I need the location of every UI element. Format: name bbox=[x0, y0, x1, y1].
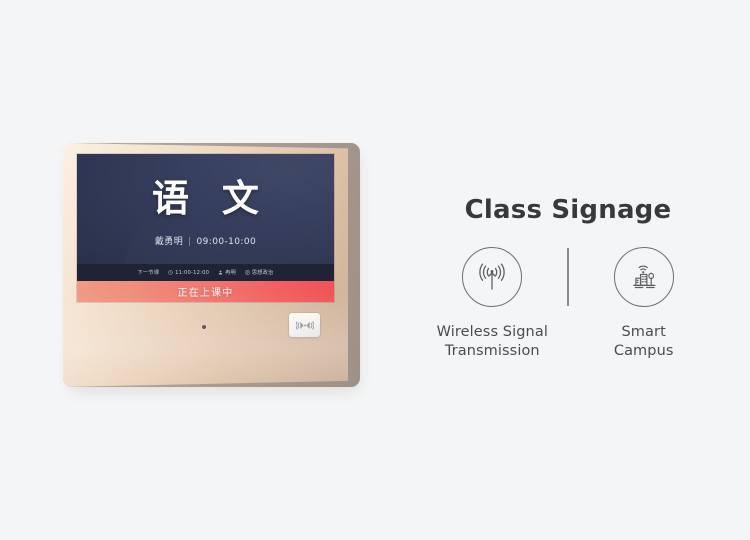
device-screen[interactable]: 语 文 戴勇明|09:00-10:00 下一节课 11:00-12:00 bbox=[77, 154, 334, 302]
next-class-label-item: 下一节课 bbox=[138, 269, 160, 276]
next-class-time: 11:00-12:00 bbox=[175, 270, 209, 276]
feature-row: Wireless Signal Transmission bbox=[408, 247, 728, 362]
next-class-teacher: 冉明 bbox=[225, 269, 236, 276]
device-body: 语 文 戴勇明|09:00-10:00 下一节课 11:00-12:00 bbox=[63, 143, 348, 387]
wireless-antenna-icon bbox=[474, 259, 510, 295]
class-signage-device: 语 文 戴勇明|09:00-10:00 下一节课 11:00-12:00 bbox=[63, 143, 360, 389]
person-icon bbox=[218, 270, 223, 275]
next-class-strip: 下一节课 11:00-12:00 冉明 bbox=[77, 264, 334, 281]
book-icon bbox=[245, 270, 250, 275]
clock-icon bbox=[168, 270, 173, 275]
next-class-subject: 思想政治 bbox=[252, 269, 274, 276]
feature-divider bbox=[567, 248, 568, 306]
feature-icon-circle bbox=[614, 247, 674, 307]
teacher-name: 戴勇明 bbox=[155, 237, 183, 247]
feature-smart-campus: Smart Campus bbox=[575, 247, 713, 362]
info-panel: Class Signage bbox=[408, 196, 728, 361]
nfc-card-reader-icon[interactable] bbox=[289, 313, 320, 337]
page-title: Class Signage bbox=[408, 196, 728, 225]
meta-separator: | bbox=[188, 237, 191, 247]
feature-label: Smart Campus bbox=[614, 323, 674, 362]
smart-campus-icon bbox=[626, 259, 662, 295]
next-class-teacher-item: 冉明 bbox=[218, 269, 236, 276]
next-class-label: 下一节课 bbox=[138, 269, 160, 276]
light-sensor-dot bbox=[202, 325, 206, 329]
current-subject-title: 语 文 bbox=[77, 180, 334, 217]
status-badge-text: 正在上课中 bbox=[178, 284, 234, 299]
current-class-meta: 戴勇明|09:00-10:00 bbox=[77, 234, 334, 247]
screen-main-area: 语 文 戴勇明|09:00-10:00 bbox=[77, 154, 334, 264]
feature-label: Wireless Signal Transmission bbox=[437, 323, 548, 362]
page-root: 语 文 戴勇明|09:00-10:00 下一节课 11:00-12:00 bbox=[0, 0, 750, 540]
status-badge: 正在上课中 bbox=[77, 281, 334, 302]
next-class-subject-item: 思想政治 bbox=[245, 269, 274, 276]
feature-wireless-signal: Wireless Signal Transmission bbox=[423, 247, 561, 362]
class-time-range: 09:00-10:00 bbox=[197, 237, 257, 247]
next-class-time-item: 11:00-12:00 bbox=[168, 270, 209, 276]
feature-icon-circle bbox=[462, 247, 522, 307]
